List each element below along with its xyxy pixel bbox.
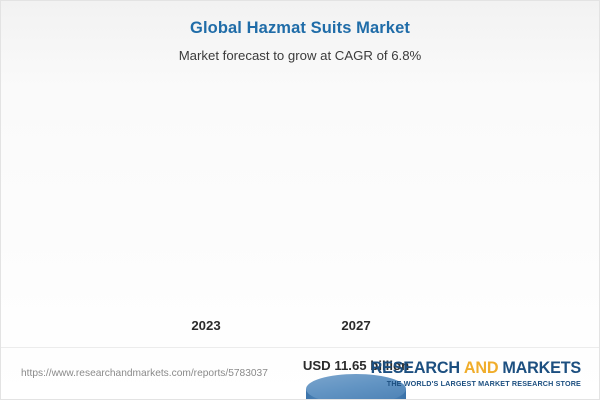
- page-title: Global Hazmat Suits Market: [1, 19, 599, 38]
- bar-category-label-2027: 2027: [286, 318, 426, 333]
- logo-word-research: RESEARCH: [371, 359, 460, 377]
- footer: https://www.researchandmarkets.com/repor…: [1, 347, 600, 399]
- logo-word-and: AND: [464, 359, 498, 377]
- market-forecast-chart-card: Global Hazmat Suits Market Market foreca…: [0, 0, 600, 400]
- chart-header: Global Hazmat Suits Market Market foreca…: [1, 1, 599, 63]
- logo-wordmark: RESEARCHANDMARKETS: [371, 360, 581, 377]
- research-and-markets-logo: RESEARCHANDMARKETS THE WORLD'S LARGEST M…: [371, 360, 581, 388]
- logo-tagline: THE WORLD'S LARGEST MARKET RESEARCH STOR…: [371, 380, 581, 388]
- logo-word-markets: MARKETS: [502, 359, 581, 377]
- bar-category-label-2023: 2023: [136, 318, 276, 333]
- report-url[interactable]: https://www.researchandmarkets.com/repor…: [21, 368, 268, 379]
- chart-subtitle: Market forecast to grow at CAGR of 6.8%: [1, 48, 599, 63]
- chart-plot-area: USD 8.95 billion 2023 USD 11.65 billion: [1, 79, 600, 341]
